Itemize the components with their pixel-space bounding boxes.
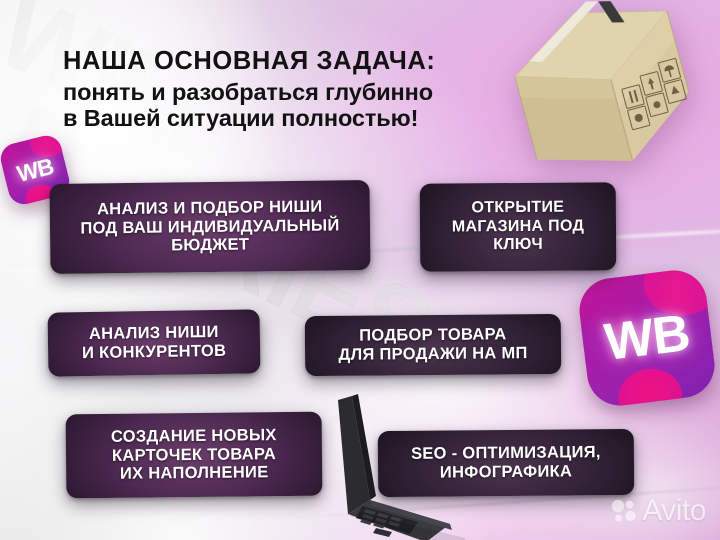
avito-logo-icon (610, 498, 636, 524)
badge-niche-budget-line-1: АНАЛИЗ И ПОДБОР НИШИ (80, 197, 339, 219)
badge-niche-competitors-line-2: И КОНКУРЕНТОВ (82, 342, 227, 363)
badge-product-cards-line-2: КАРТОЧЕК ТОВАРА (111, 445, 277, 466)
badge-niche-budget: АНАЛИЗ И ПОДБОР НИШИ ПОД ВАШ ИНДИВИДУАЛЬ… (49, 180, 370, 274)
badge-turnkey: ОТКРЫТИЕ МАГАЗИНА ПОД КЛЮЧ (420, 182, 617, 271)
badge-turnkey-line-3: КЛЮЧ (452, 236, 584, 255)
badge-turnkey-line-2: МАГАЗИНА ПОД (452, 217, 584, 236)
badge-niche-budget-line-3: БЮДЖЕТ (81, 235, 340, 257)
avito-watermark: Avito (610, 494, 706, 528)
badge-seo-infographics: SEO - ОПТИМИЗАЦИЯ, ИНФОГРАФИКА (378, 429, 635, 497)
badge-niche-budget-line-2: ПОД ВАШ ИНДИВИДУАЛЬНЫЙ (80, 216, 339, 238)
badge-product-selection-line-1: ПОДБОР ТОВАРА (338, 325, 527, 346)
badge-product-cards-line-1: СОЗДАНИЕ НОВЫХ (111, 426, 277, 447)
badge-product-cards: СОЗДАНИЕ НОВЫХ КАРТОЧЕК ТОВАРА ИХ НАПОЛН… (66, 412, 323, 499)
headline: НАША ОСНОВНАЯ ЗАДАЧА: понять и разобрать… (63, 47, 533, 131)
badge-product-selection: ПОДБОР ТОВАРА ДЛЯ ПРОДАЖИ НА МП (305, 314, 562, 376)
wb-logo-large-icon: WB (576, 267, 719, 410)
headline-line-3: в Вашей ситуации полностью! (63, 105, 533, 131)
promo-banner: WILD BERRIES (0, 0, 720, 540)
badge-niche-competitors: АНАЛИЗ НИШИ И КОНКУРЕНТОВ (48, 309, 261, 376)
badge-seo-infographics-line-1: SEO - ОПТИМИЗАЦИЯ, (411, 443, 601, 464)
badge-niche-competitors-line-1: АНАЛИЗ НИШИ (82, 323, 227, 344)
badge-product-cards-line-3: ИХ НАПОЛНЕНИЕ (111, 464, 277, 485)
badge-seo-infographics-line-2: ИНФОГРАФИКА (411, 462, 601, 483)
avito-watermark-label: Avito (642, 494, 706, 528)
wb-logo-large-label: WB (576, 267, 719, 410)
headline-line-1: НАША ОСНОВНАЯ ЗАДАЧА: (63, 47, 533, 76)
badge-turnkey-line-1: ОТКРЫТИЕ (452, 199, 584, 218)
badge-product-selection-line-2: ДЛЯ ПРОДАЖИ НА МП (338, 344, 527, 365)
headline-line-2: понять и разобраться глубинно (63, 79, 533, 105)
